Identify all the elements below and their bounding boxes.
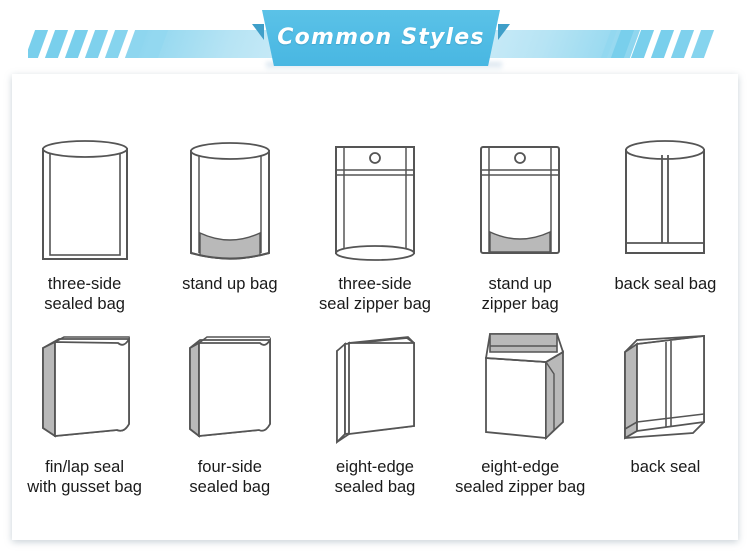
- banner-fold-left-icon: [252, 24, 264, 40]
- style-label: back seal: [631, 457, 701, 477]
- page-header: Common Styles: [0, 0, 750, 78]
- style-item-back-seal-bag[interactable]: back seal bag: [593, 130, 738, 322]
- styles-row-2: fin/lap seal with gusset bag four-side s…: [12, 324, 738, 514]
- title-banner: Common Styles: [252, 10, 510, 68]
- style-item-stand-up-zipper-bag[interactable]: stand up zipper bag: [448, 130, 593, 322]
- stand-up-zipper-bag-icon: [448, 130, 593, 265]
- style-label: eight-edge sealed bag: [335, 457, 416, 497]
- four-side-sealed-bag-icon: [157, 324, 302, 444]
- banner-body: Common Styles: [262, 10, 500, 66]
- style-label: three-side seal zipper bag: [319, 274, 431, 314]
- back-seal-icon: [593, 324, 738, 444]
- styles-card: three-side sealed bag stand up bag: [12, 74, 738, 540]
- style-item-back-seal[interactable]: back seal: [593, 324, 738, 514]
- style-item-three-side-seal-zipper-bag[interactable]: three-side seal zipper bag: [302, 130, 447, 322]
- style-label: stand up bag: [182, 274, 277, 294]
- style-label: four-side sealed bag: [189, 457, 270, 497]
- style-item-eight-edge-sealed-zipper-bag[interactable]: eight-edge sealed zipper bag: [448, 324, 593, 514]
- fin-lap-seal-with-gusset-bag-icon: [12, 324, 157, 444]
- page-title: Common Styles: [277, 25, 484, 52]
- style-item-four-side-sealed-bag[interactable]: four-side sealed bag: [157, 324, 302, 514]
- stand-up-bag-icon: [157, 130, 302, 265]
- banner-fold-right-icon: [498, 24, 510, 40]
- styles-row-1: three-side sealed bag stand up bag: [12, 130, 738, 322]
- back-seal-bag-icon: [593, 130, 738, 265]
- style-item-stand-up-bag[interactable]: stand up bag: [157, 130, 302, 322]
- style-label: stand up zipper bag: [482, 274, 559, 314]
- style-label: back seal bag: [615, 274, 717, 294]
- style-item-three-side-sealed-bag[interactable]: three-side sealed bag: [12, 130, 157, 322]
- style-item-fin-lap-seal-with-gusset-bag[interactable]: fin/lap seal with gusset bag: [12, 324, 157, 514]
- three-side-seal-zipper-bag-icon: [302, 130, 447, 265]
- three-side-sealed-bag-icon: [12, 130, 157, 265]
- style-label: eight-edge sealed zipper bag: [455, 457, 585, 497]
- style-label: fin/lap seal with gusset bag: [27, 457, 142, 497]
- eight-edge-sealed-zipper-bag-icon: [448, 324, 593, 444]
- style-item-eight-edge-sealed-bag[interactable]: eight-edge sealed bag: [302, 324, 447, 514]
- eight-edge-sealed-bag-icon: [302, 324, 447, 444]
- style-label: three-side sealed bag: [44, 274, 125, 314]
